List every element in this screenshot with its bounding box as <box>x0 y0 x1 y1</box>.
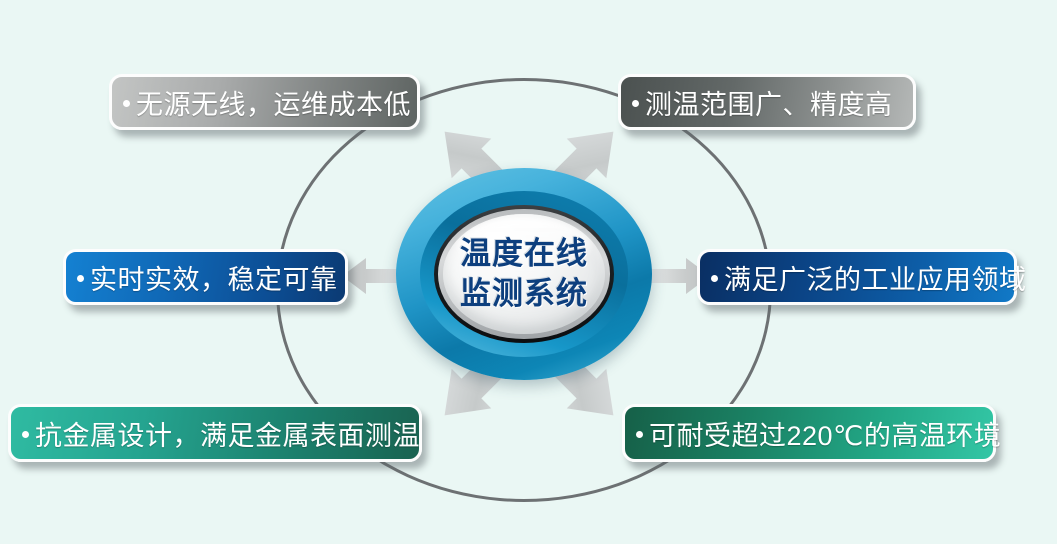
arrow-left-icon <box>340 255 404 297</box>
feature-label-text: 可耐受超过220℃的高温环境 <box>649 414 1001 453</box>
center-hub: 温度在线 监测系统 <box>396 168 652 380</box>
bullet-icon <box>711 275 718 282</box>
feature-label-top-left[interactable]: 无源无线，运维成本低 <box>109 74 420 130</box>
feature-label-text: 满足广泛的工业应用领域 <box>724 258 1027 297</box>
feature-label-text: 无源无线，运维成本低 <box>136 83 411 122</box>
feature-label-top-right[interactable]: 测温范围广、精度高 <box>618 74 916 130</box>
feature-label-bottom-left[interactable]: 抗金属设计，满足金属表面测温 <box>8 404 422 462</box>
diagram-canvas: 温度在线 监测系统 无源无线，运维成本低 测温范围广、精度高 实时实效，稳定可靠… <box>0 0 1057 544</box>
hub-title: 温度在线 监测系统 <box>396 168 652 380</box>
hub-title-line-1: 温度在线 <box>460 234 588 274</box>
feature-label-middle-left[interactable]: 实时实效，稳定可靠 <box>63 249 348 305</box>
hub-title-line-2: 监测系统 <box>460 274 588 314</box>
bullet-icon <box>22 431 29 438</box>
feature-label-text: 抗金属设计，满足金属表面测温 <box>35 414 420 453</box>
bullet-icon <box>636 431 643 438</box>
bullet-icon <box>123 100 130 107</box>
bullet-icon <box>77 275 84 282</box>
feature-label-text: 测温范围广、精度高 <box>645 83 893 122</box>
bullet-icon <box>632 100 639 107</box>
feature-label-middle-right[interactable]: 满足广泛的工业应用领域 <box>697 249 1017 305</box>
feature-label-text: 实时实效，稳定可靠 <box>90 258 338 297</box>
feature-label-bottom-right[interactable]: 可耐受超过220℃的高温环境 <box>622 404 996 462</box>
